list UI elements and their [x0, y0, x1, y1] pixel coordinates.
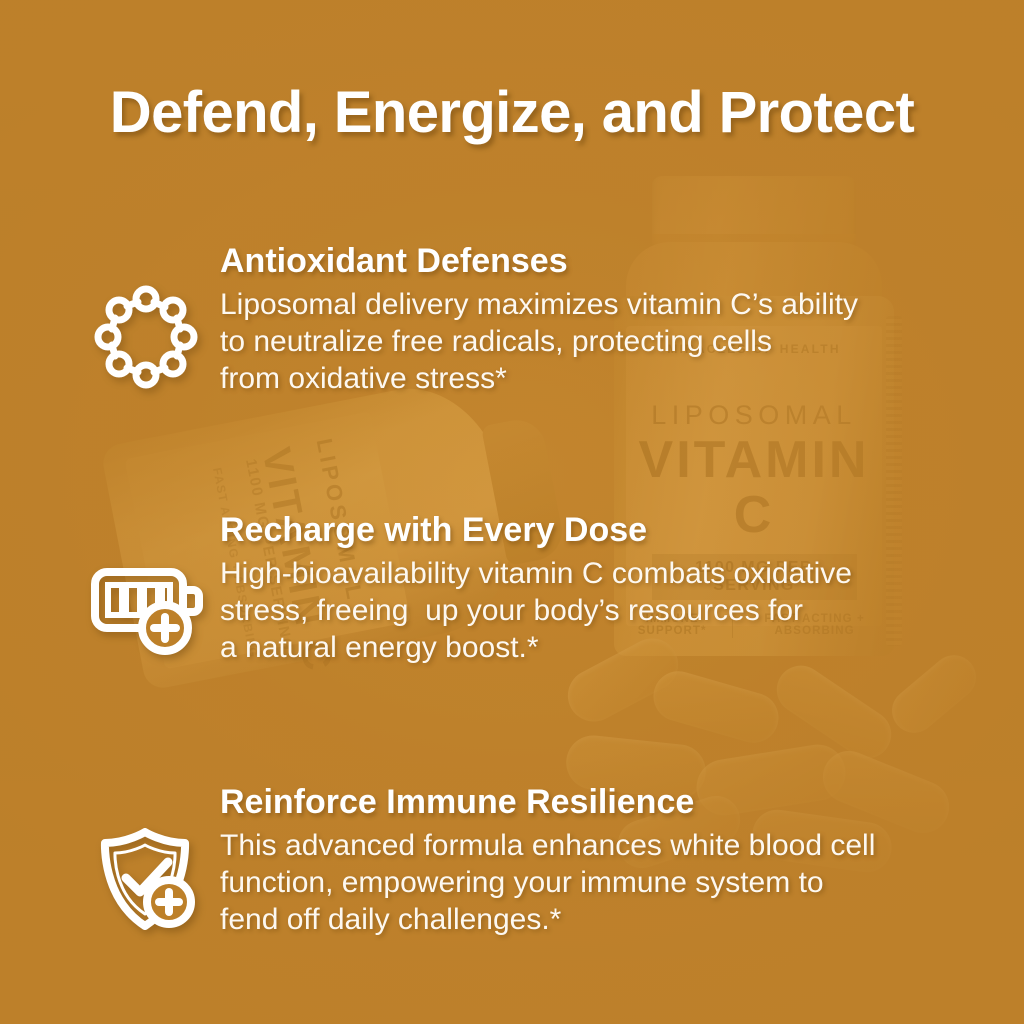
- feature-text: Antioxidant Defenses Liposomal delivery …: [218, 243, 976, 397]
- feature-heading: Recharge with Every Dose: [220, 512, 976, 549]
- feature-item-immune: Reinforce Immune Resilience This advance…: [74, 784, 976, 938]
- feature-item-antioxidant: Antioxidant Defenses Liposomal delivery …: [74, 243, 976, 397]
- feature-icon-wrap: [74, 784, 218, 932]
- feature-body-line: a natural energy boost.*: [220, 629, 976, 666]
- feature-body-line: High-bioavailability vitamin C combats o…: [220, 555, 976, 592]
- feature-heading: Antioxidant Defenses: [220, 243, 976, 280]
- page-title: Defend, Energize, and Protect: [0, 79, 1024, 146]
- feature-body: Liposomal delivery maximizes vitamin C’s…: [220, 286, 976, 397]
- feature-body-line: function, empowering your immune system …: [220, 864, 976, 901]
- feature-item-recharge: Recharge with Every Dose High-bioavailab…: [74, 512, 976, 666]
- feature-text: Reinforce Immune Resilience This advance…: [218, 784, 976, 938]
- feature-body: This advanced formula enhances white blo…: [220, 827, 976, 938]
- feature-body: High-bioavailability vitamin C combats o…: [220, 555, 976, 666]
- product-benefits-poster: MIRACLES OF HEALTH LIPOSOMAL VITAMIN C 1…: [0, 0, 1024, 1024]
- feature-body-line: from oxidative stress*: [220, 360, 976, 397]
- shield-check-plus-icon: [93, 826, 199, 932]
- feature-icon-wrap: [74, 243, 218, 389]
- feature-heading: Reinforce Immune Resilience: [220, 784, 976, 821]
- battery-plus-icon: [89, 554, 203, 658]
- feature-body-line: Liposomal delivery maximizes vitamin C’s…: [220, 286, 976, 323]
- feature-body-line: stress, freeing up your body’s resources…: [220, 592, 976, 629]
- feature-icon-wrap: [74, 512, 218, 658]
- feature-body-line: This advanced formula enhances white blo…: [220, 827, 976, 864]
- feature-text: Recharge with Every Dose High-bioavailab…: [218, 512, 976, 666]
- liposome-ring-icon: [94, 285, 198, 389]
- feature-body-line: fend off daily challenges.*: [220, 901, 976, 938]
- feature-body-line: to neutralize free radicals, protecting …: [220, 323, 976, 360]
